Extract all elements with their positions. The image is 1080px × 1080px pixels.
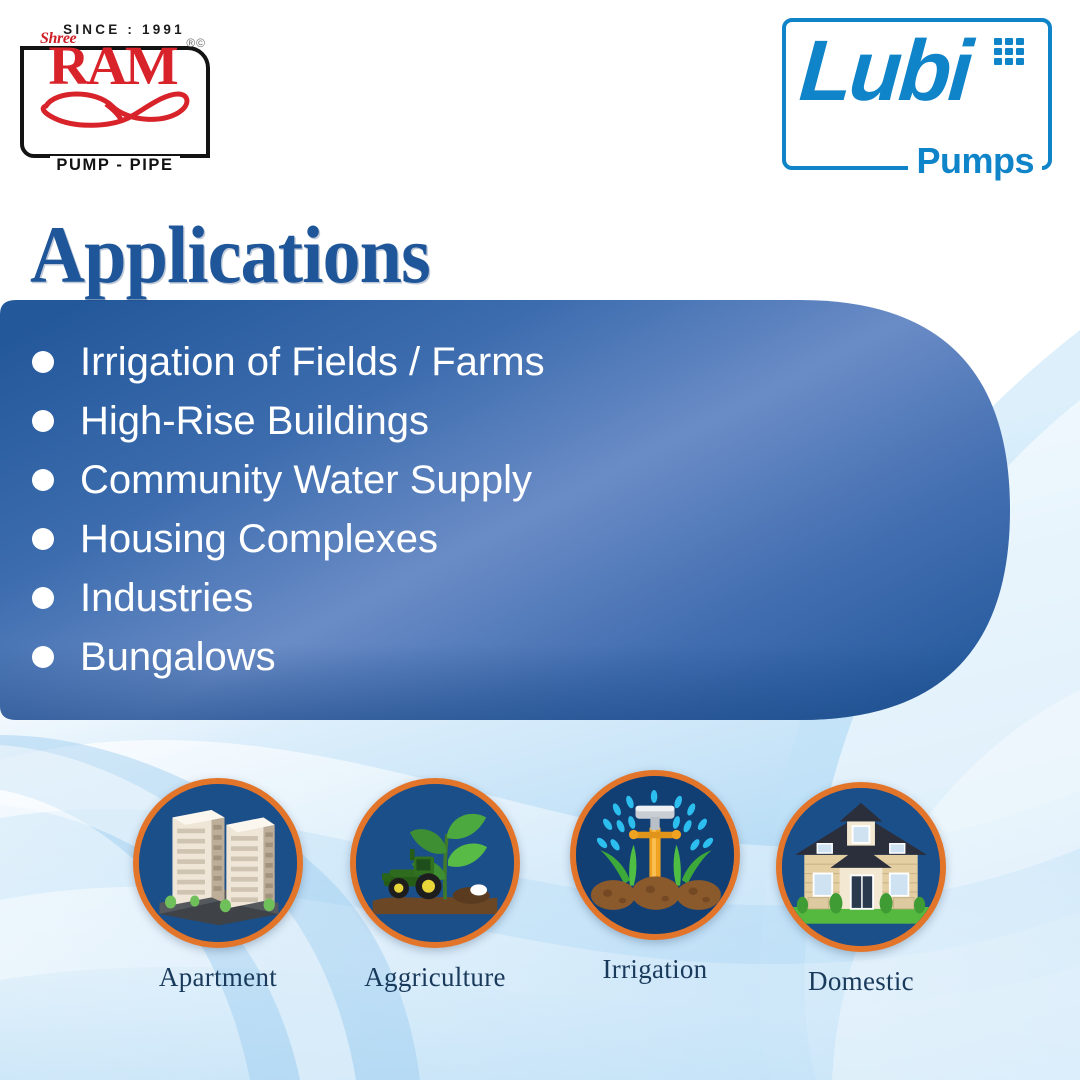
segment-apartment: Apartment <box>123 778 313 993</box>
list-item: Housing Complexes <box>32 509 900 568</box>
house-icon <box>776 782 946 952</box>
trademark-marks: ®© <box>186 36 206 50</box>
segment-domestic: Domestic <box>766 782 956 997</box>
list-item-label: Community Water Supply <box>80 460 532 500</box>
segment-aggriculture: Aggriculture <box>340 778 530 993</box>
poster-header: SINCE : 1991 Shree RAM ®© PUMP - PIPE Lu… <box>0 0 1080 190</box>
shree-ram-logo: SINCE : 1991 Shree RAM ®© PUMP - PIPE <box>20 22 216 164</box>
page-title-wrap: Applications <box>30 214 460 296</box>
list-item: High-Rise Buildings <box>32 391 900 450</box>
pump-pipe-label: PUMP - PIPE <box>50 156 179 175</box>
poster-canvas: SINCE : 1991 Shree RAM ®© PUMP - PIPE Lu… <box>0 0 1080 1080</box>
list-item-label: High-Rise Buildings <box>80 401 429 441</box>
segment-label: Aggriculture <box>340 962 530 993</box>
pump-pipe-wrap: PUMP - PIPE <box>20 156 210 175</box>
list-item-label: Industries <box>80 578 253 618</box>
list-item: Industries <box>32 568 900 627</box>
lubi-pumps-label: Pumps <box>908 142 1042 180</box>
segment-label: Irrigation <box>560 954 750 985</box>
bullet-dot-icon <box>32 528 54 550</box>
apartment-buildings-icon <box>133 778 303 948</box>
lubi-pumps-logo: Lubi Pumps <box>782 18 1052 170</box>
applications-list: Irrigation of Fields / Farms High-Rise B… <box>0 300 900 718</box>
list-item-label: Bungalows <box>80 637 276 677</box>
list-item-label: Irrigation of Fields / Farms <box>80 342 545 382</box>
tractor-plant-icon <box>350 778 520 948</box>
bullet-dot-icon <box>32 587 54 609</box>
bullet-dot-icon <box>32 410 54 432</box>
list-item: Irrigation of Fields / Farms <box>32 332 900 391</box>
list-item: Bungalows <box>32 627 900 686</box>
sprinkler-soil-icon <box>570 770 740 940</box>
list-item-label: Housing Complexes <box>80 519 438 559</box>
lubi-wordmark: Lubi <box>797 28 973 114</box>
segment-label: Apartment <box>123 962 313 993</box>
bullet-dot-icon <box>32 646 54 668</box>
bullet-dot-icon <box>32 469 54 491</box>
lubi-grid-dots-icon <box>994 38 1028 70</box>
bullet-dot-icon <box>32 351 54 373</box>
list-item: Community Water Supply <box>32 450 900 509</box>
page-title: Applications <box>30 214 430 296</box>
ram-swash-icon <box>36 84 196 130</box>
segment-irrigation: Irrigation <box>560 770 750 985</box>
segment-label: Domestic <box>766 966 956 997</box>
segment-icons-row: Apartment <box>0 760 1080 1020</box>
